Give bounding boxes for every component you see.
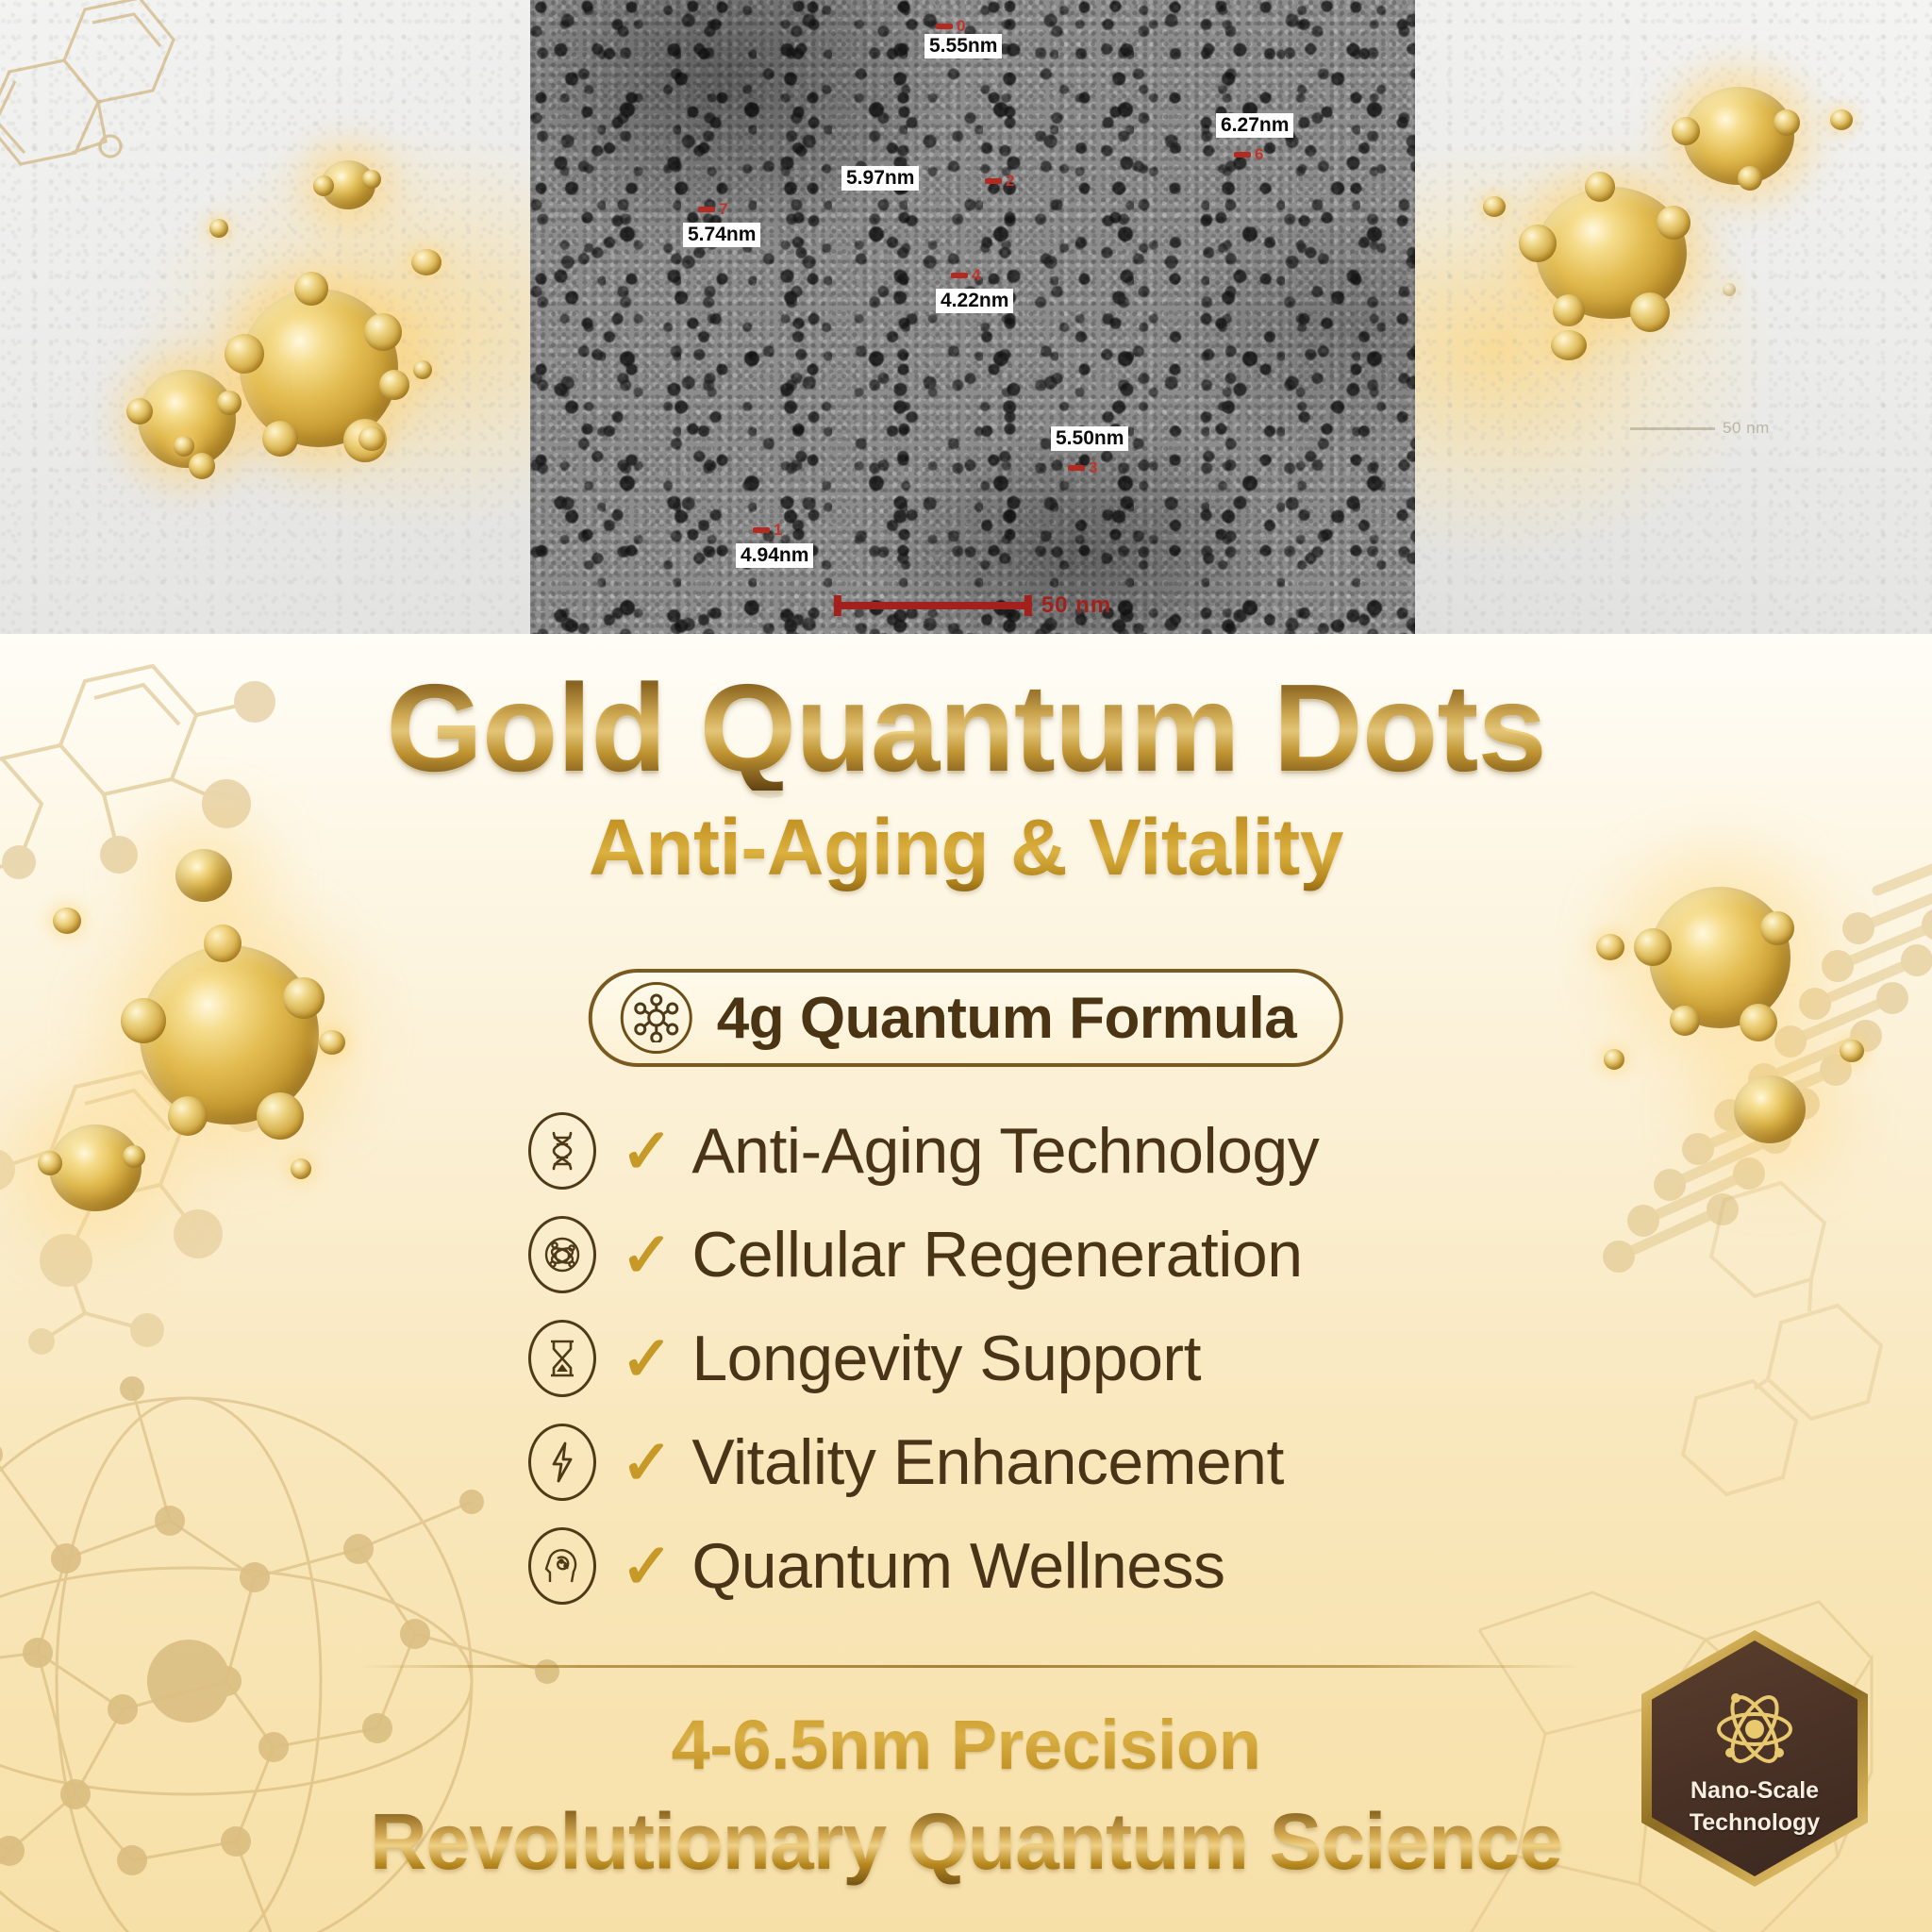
gold-particle-dot (209, 219, 228, 238)
tem-density-variation (530, 0, 1415, 634)
gold-cluster-main-left (140, 945, 319, 1124)
gold-particle-dot (413, 360, 432, 379)
gold-cluster-large (240, 289, 398, 447)
gold-nanoparticle-illustration-right: 50 nm (1415, 0, 1932, 634)
gold-cluster-main-right (1649, 887, 1790, 1028)
scale-bar-line (834, 602, 1032, 609)
quantum-formula-badge[interactable]: 4g Quantum Formula (589, 969, 1343, 1067)
tem-measurement-index: 0 (957, 17, 965, 36)
atom-cell-icon (528, 1216, 596, 1293)
gold-particle-dot (319, 1030, 345, 1055)
title-block: Gold Quantum Dots Anti-Aging & Vitality (0, 666, 1932, 893)
dna-helix-icon (528, 1112, 596, 1190)
gold-particle-dot (1596, 934, 1624, 960)
main-content-panel: Gold Quantum Dots Anti-Aging & Vitality (0, 634, 1932, 1932)
checkmark-icon: ✓ (621, 1120, 673, 1182)
dibenzofuran-molecule-outline (0, 0, 226, 189)
molecule-icon (621, 982, 692, 1054)
tem-measurement-index: 6 (1255, 145, 1263, 164)
gold-particle-dot (1551, 330, 1587, 360)
gold-particle-dot (1483, 196, 1506, 217)
gold-cluster-large (1536, 187, 1687, 319)
tem-measurement-index: 3 (1089, 458, 1097, 477)
gold-cluster-medium (1683, 87, 1794, 185)
feature-label: Vitality Enhancement (691, 1425, 1284, 1499)
feature-label: Anti-Aging Technology (691, 1114, 1319, 1188)
tem-measurement-label: 4.22nm (936, 289, 1013, 313)
hero-image-strip: 0 5.55nm 6.27nm 6 5.97nm 2 7 5.74nm 4 4.… (0, 0, 1932, 634)
gold-nanoparticle-illustration-left (0, 0, 530, 634)
tem-measurement-index: 7 (719, 200, 727, 219)
brain-head-icon (528, 1527, 596, 1605)
lightning-bolt-icon (528, 1424, 596, 1501)
feature-item-anti-aging[interactable]: ✓ Anti-Aging Technology (528, 1106, 1319, 1196)
feature-label: Cellular Regeneration (691, 1218, 1302, 1291)
feature-item-longevity-support[interactable]: ✓ Longevity Support (528, 1313, 1319, 1404)
gold-particle-dot (411, 249, 441, 275)
scale-bar-label: 50 nm (1723, 419, 1770, 437)
tem-measurement-label: 5.50nm (1051, 426, 1128, 451)
tem-measurement-index: 4 (972, 266, 980, 285)
scale-bar-label: 50 nm (1041, 592, 1111, 619)
atom-icon (1709, 1687, 1800, 1772)
badge-label-line1: Nano-Scale (1690, 1777, 1819, 1804)
panel-scale-bar: 50 nm (1630, 419, 1770, 438)
hexagon-lattice-decoration (1640, 1162, 1923, 1558)
gold-particle-dot (53, 908, 81, 934)
tem-micrograph: 0 5.55nm 6.27nm 6 5.97nm 2 7 5.74nm 4 4.… (530, 0, 1415, 634)
badge-label-line2: Technology (1690, 1809, 1820, 1836)
tem-measurement-label: 5.55nm (924, 34, 1002, 58)
hourglass-icon (528, 1320, 596, 1397)
gold-cluster-main-lower-left (49, 1124, 142, 1211)
gold-particle-dot (358, 426, 385, 451)
panel-grain-texture (1415, 0, 1932, 634)
scale-bar-line (1630, 427, 1715, 430)
gold-particle-dot (1830, 109, 1853, 130)
gold-particle-dot (1604, 1049, 1624, 1070)
feature-item-vitality-enhancement[interactable]: ✓ Vitality Enhancement (528, 1417, 1319, 1507)
feature-label: Quantum Wellness (691, 1529, 1224, 1603)
nano-scale-technology-badge[interactable]: Nano-Scale Technology (1641, 1630, 1868, 1887)
tem-measurement-label: 5.97nm (841, 166, 919, 191)
tem-scale-bar: 50 nm (834, 592, 1111, 619)
page-title: Gold Quantum Dots (0, 666, 1932, 791)
tem-measurement-index: 1 (774, 521, 782, 540)
gold-cluster-main-right-small (1734, 1075, 1806, 1143)
page-subtitle: Anti-Aging & Vitality (0, 802, 1932, 893)
feature-item-cellular-regeneration[interactable]: ✓ Cellular Regeneration (528, 1209, 1319, 1300)
tem-measurement-label: 4.94nm (736, 543, 813, 568)
checkmark-icon: ✓ (621, 1431, 673, 1493)
checkmark-icon: ✓ (621, 1327, 673, 1390)
tem-measurement-label: 5.74nm (683, 223, 760, 247)
tem-measurement-label: 6.27nm (1216, 113, 1293, 138)
gold-particle-dot (1723, 283, 1736, 296)
gold-cluster-small (321, 160, 375, 209)
gold-particle-dot (174, 436, 194, 457)
feature-list: ✓ Anti-Aging Technology (528, 1106, 1319, 1611)
feature-item-quantum-wellness[interactable]: ✓ Quantum Wellness (528, 1521, 1319, 1611)
section-divider (358, 1665, 1583, 1668)
feature-label: Longevity Support (691, 1322, 1201, 1395)
checkmark-icon: ✓ (621, 1535, 673, 1597)
gold-particle-dot (291, 1158, 311, 1179)
gold-particle-dot (1840, 1040, 1864, 1062)
checkmark-icon: ✓ (621, 1224, 673, 1286)
tem-measurement-index: 2 (1006, 172, 1014, 191)
quantum-formula-label: 4g Quantum Formula (717, 985, 1296, 1052)
